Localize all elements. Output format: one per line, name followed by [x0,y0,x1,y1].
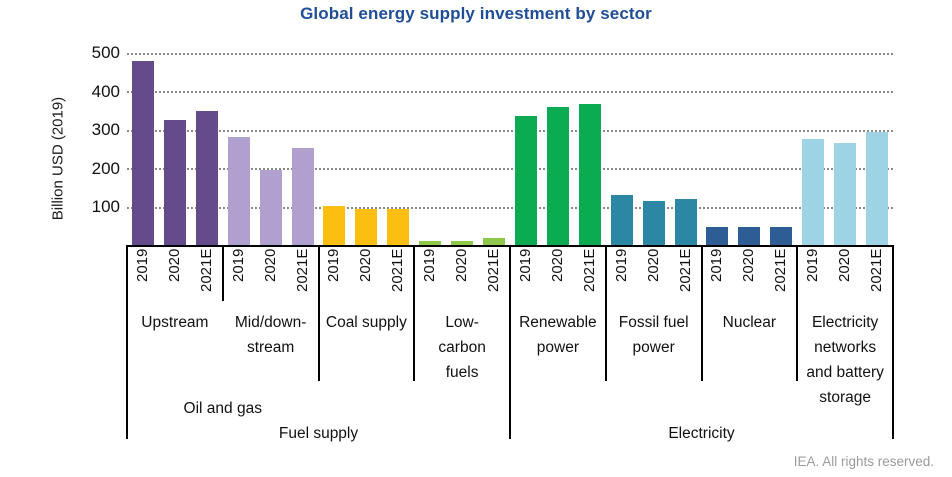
bar-electricity_networks-2021E [866,132,888,245]
group-separator-1 [222,245,224,301]
x-tick-electricity_networks-2020: 2020 [836,249,854,301]
x-tick-low_carbon_fuels-2020: 2020 [453,249,471,301]
bar-nuclear-2020 [738,227,760,245]
x-tick-fossil_fuel_power-2019: 2019 [613,249,631,301]
x-tick-upstream-2020: 2020 [166,249,184,301]
x-tick-low_carbon_fuels-2021E: 2021E [485,249,503,301]
bar-series [127,48,893,245]
supergroup-label-electricity: Electricity [510,421,893,446]
group-label-renewable_power: Renewablepower [510,310,606,360]
x-tick-fossil_fuel_power-2021E: 2021E [677,249,695,301]
bar-nuclear-2021E [770,227,792,245]
x-tick-renewable_power-2021E: 2021E [581,249,599,301]
supergroup-label-fuel-supply: Fuel supply [127,421,510,446]
bar-renewable_power-2019 [515,116,537,245]
bar-renewable_power-2021E [579,104,601,245]
x-tick-coal_supply-2019: 2019 [325,249,343,301]
x-tick-nuclear-2019: 2019 [708,249,726,301]
group-label-fossil_fuel_power: Fossil fuelpower [606,310,702,360]
x-tick-coal_supply-2021E: 2021E [389,249,407,301]
x-tick-electricity_networks-2021E: 2021E [868,249,886,301]
bar-electricity_networks-2019 [802,139,824,245]
group-label-nuclear: Nuclear [702,310,798,335]
bar-upstream-2019 [132,61,154,245]
x-tick-mid_downstream-2021E: 2021E [294,249,312,301]
group-label-coal_supply: Coal supply [319,310,415,335]
x-tick-low_carbon_fuels-2019: 2019 [421,249,439,301]
supergroup-label-oil-and-gas: Oil and gas [127,396,319,421]
bar-nuclear-2019 [706,227,728,245]
bar-coal_supply-2021E [387,209,409,245]
y-axis-title: Billion USD (2019) [50,59,67,259]
bar-mid_downstream-2020 [260,170,282,245]
bar-mid_downstream-2021E [292,148,314,245]
bar-fossil_fuel_power-2020 [643,201,665,245]
x-tick-upstream-2019: 2019 [134,249,152,301]
chart-root: Global energy supply investment by secto… [0,0,952,477]
x-tick-electricity_networks-2019: 2019 [804,249,822,301]
x-tick-mid_downstream-2020: 2020 [262,249,280,301]
bar-coal_supply-2019 [323,206,345,245]
x-tick-upstream-2021E: 2021E [198,249,216,301]
x-tick-renewable_power-2019: 2019 [517,249,535,301]
bar-low_carbon_fuels-2021E [483,238,505,245]
bar-upstream-2021E [196,111,218,245]
bar-fossil_fuel_power-2021E [675,199,697,245]
copyright-notice: IEA. All rights reserved. [794,454,934,469]
bar-upstream-2020 [164,120,186,245]
y-tick-200: 200 [72,159,120,179]
x-tick-renewable_power-2020: 2020 [549,249,567,301]
y-tick-300: 300 [72,120,120,140]
bar-coal_supply-2020 [355,209,377,245]
group-label-low_carbon_fuels: Low-carbonfuels [414,310,510,385]
bar-fossil_fuel_power-2019 [611,195,633,245]
x-tick-coal_supply-2020: 2020 [357,249,375,301]
y-tick-400: 400 [72,82,120,102]
bar-electricity_networks-2020 [834,143,856,245]
x-tick-fossil_fuel_power-2020: 2020 [645,249,663,301]
bar-renewable_power-2020 [547,107,569,245]
x-tick-nuclear-2021E: 2021E [772,249,790,301]
y-tick-100: 100 [72,197,120,217]
group-label-mid_downstream: Mid/down-stream [223,310,319,360]
y-tick-500: 500 [72,43,120,63]
x-tick-mid_downstream-2019: 2019 [230,249,248,301]
page-title: Global energy supply investment by secto… [0,4,952,24]
x-tick-nuclear-2020: 2020 [740,249,758,301]
group-label-upstream: Upstream [127,310,223,335]
bar-mid_downstream-2019 [228,137,250,245]
group-label-electricity_networks: Electricitynetworksand batterystorage [797,310,893,410]
